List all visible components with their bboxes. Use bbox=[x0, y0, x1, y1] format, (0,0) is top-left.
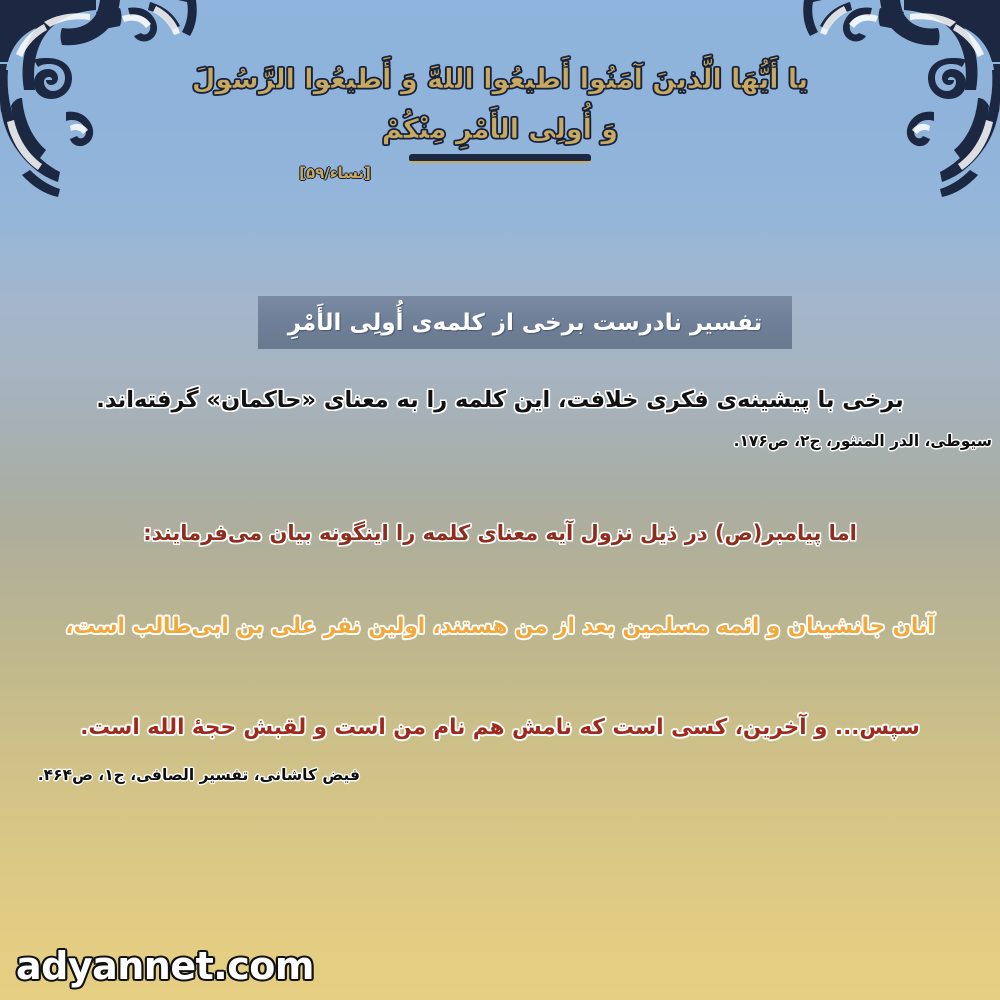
verse-underline-rule bbox=[409, 154, 591, 163]
citation-feyz-kashani: فیض کاشانی، تفسیر الصافی، ج۱، ص۴۶۴. bbox=[38, 766, 360, 784]
paragraph-incorrect-interpretation: برخی با پیشینه‌ی فکری خلافت، این کلمه را… bbox=[0, 386, 1000, 414]
quote-line-1: آنان جانشینان و ائمه مسلمین بعد از من هس… bbox=[0, 614, 1000, 641]
verse-line-1: یا أَیُّهَا الَّذینَ آمَنُوا أَطیعُوا ال… bbox=[0, 58, 1000, 102]
quran-verse-block: یا أَیُّهَا الَّذینَ آمَنُوا أَطیعُوا ال… bbox=[0, 58, 1000, 182]
verse-line-2: وَ أُولِی الأَمْرِ مِنْکُمْ bbox=[0, 108, 1000, 152]
citation-suyuti: سیوطی، الدر المنثور، ج۲، ص۱۷۶. bbox=[734, 432, 992, 450]
poster-canvas: یا أَیُّهَا الَّذینَ آمَنُوا أَطیعُوا ال… bbox=[0, 0, 1000, 1000]
page-title: تفسیر نادرست برخی از کلمه‌ی أُولِی الأَم… bbox=[288, 310, 763, 336]
verse-reference: [نساء/۵۹] bbox=[0, 164, 1000, 182]
quote-line-2: سپس... و آخرین، کسی است که نامش هم نام م… bbox=[0, 715, 1000, 742]
paragraph-prophet-statement-intro: اما پیامبر(ص) در ذیل نزول آیه معنای کلمه… bbox=[0, 520, 1000, 546]
title-banner: تفسیر نادرست برخی از کلمه‌ی أُولِی الأَم… bbox=[258, 296, 792, 349]
site-watermark: adyannet.com bbox=[16, 944, 314, 988]
